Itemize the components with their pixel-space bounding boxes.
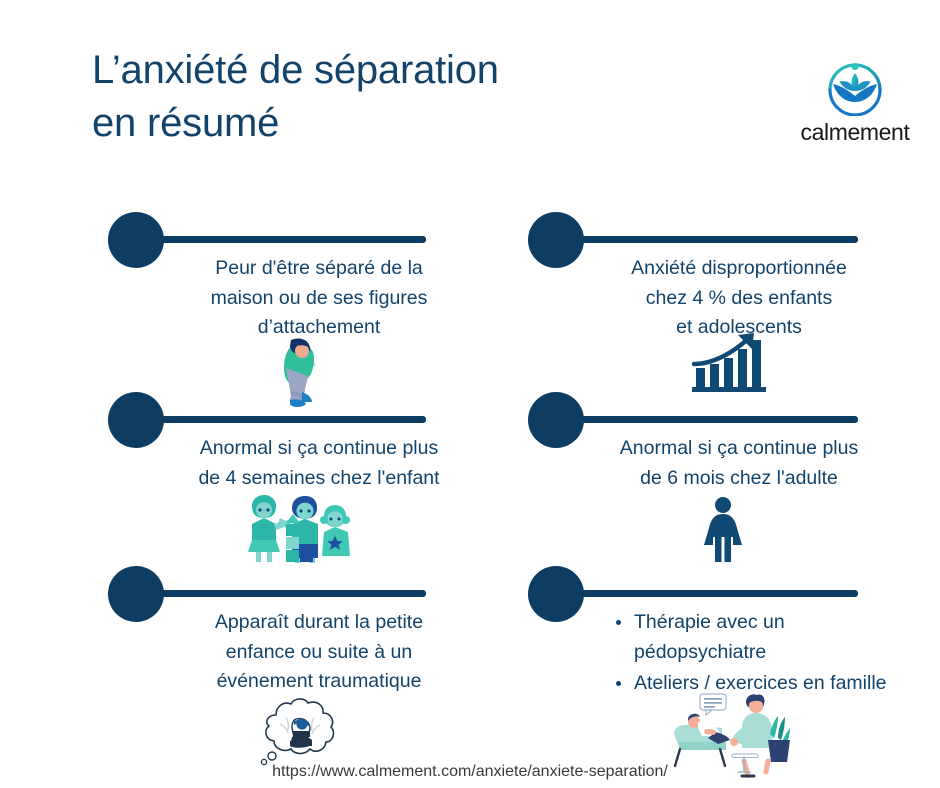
fact-block-abnormal-4-weeks-child: Anormal si ça continue plus de 4 semaine… — [108, 392, 528, 493]
fact-text-line: maison ou de ses figures — [168, 284, 470, 314]
fact-block-onset-early-childhood: Apparaît durant la petite enfance ou sui… — [108, 566, 528, 697]
infographic-canvas: L’anxiété de séparation en résumé — [0, 0, 940, 788]
pin-line — [568, 590, 858, 597]
fact-text-line: événement traumatique — [168, 667, 470, 697]
fact-text-line: Peur d'être séparé de la — [168, 254, 470, 284]
fact-text-line: enfance ou suite à un — [168, 638, 470, 668]
fact-text: Anxiété disproportionnée chez 4 % des en… — [528, 254, 890, 343]
fact-block-fear-of-separation: Peur d'être séparé de la maison ou de se… — [108, 212, 528, 343]
page-title: L’anxiété de séparation en résumé — [92, 44, 652, 150]
fact-text: Peur d'être séparé de la maison ou de se… — [108, 254, 470, 343]
brand-logo: calmement — [790, 46, 920, 146]
fact-block-treatment-options: Thérapie avec un pédopsychiatre Ateliers… — [528, 566, 940, 701]
fact-block-prevalence-4-percent: Anxiété disproportionnée chez 4 % des en… — [528, 212, 940, 343]
fact-text: Apparaît durant la petite enfance ou sui… — [108, 608, 470, 697]
fact-text: Thérapie avec un pédopsychiatre Ateliers… — [528, 608, 888, 699]
list-item: Thérapie avec un pédopsychiatre — [616, 608, 888, 667]
lotus-meditation-icon — [820, 46, 890, 116]
facts-grid: Peur d'être séparé de la maison ou de se… — [0, 180, 940, 760]
fact-block-abnormal-6-months-adult: Anormal si ça continue plus de 6 mois ch… — [528, 392, 940, 493]
fact-text-line: Apparaît durant la petite — [168, 608, 470, 638]
header: L’anxiété de séparation en résumé — [0, 0, 940, 180]
treatment-list: Thérapie avec un pédopsychiatre Ateliers… — [598, 608, 888, 699]
pin-line — [148, 590, 426, 597]
pin-line — [568, 416, 858, 423]
fact-text-line: Anormal si ça continue plus — [168, 434, 470, 464]
fact-text-line: et adolescents — [588, 313, 890, 343]
fact-text-line: Anxiété disproportionnée — [588, 254, 890, 284]
fact-text: Anormal si ça continue plus de 6 mois ch… — [528, 434, 890, 493]
fact-text-line: chez 4 % des enfants — [588, 284, 890, 314]
fact-text: Anormal si ça continue plus de 4 semaine… — [108, 434, 470, 493]
source-url[interactable]: https://www.calmement.com/anxiete/anxiet… — [0, 763, 940, 781]
pin-line — [148, 236, 426, 243]
list-item: Ateliers / exercices en famille — [616, 669, 888, 699]
page-title-line-1: L’anxiété de séparation — [92, 44, 652, 97]
brand-wordmark: calmement — [790, 119, 920, 146]
fact-text-line: de 6 mois chez l'adulte — [588, 464, 890, 494]
pin-line — [568, 236, 858, 243]
fact-text-line: Anormal si ça continue plus — [588, 434, 890, 464]
page-title-line-2: en résumé — [92, 97, 652, 150]
pin-line — [148, 416, 426, 423]
fact-text-line: de 4 semaines chez l'enfant — [168, 464, 470, 494]
fact-text-line: d’attachement — [168, 313, 470, 343]
